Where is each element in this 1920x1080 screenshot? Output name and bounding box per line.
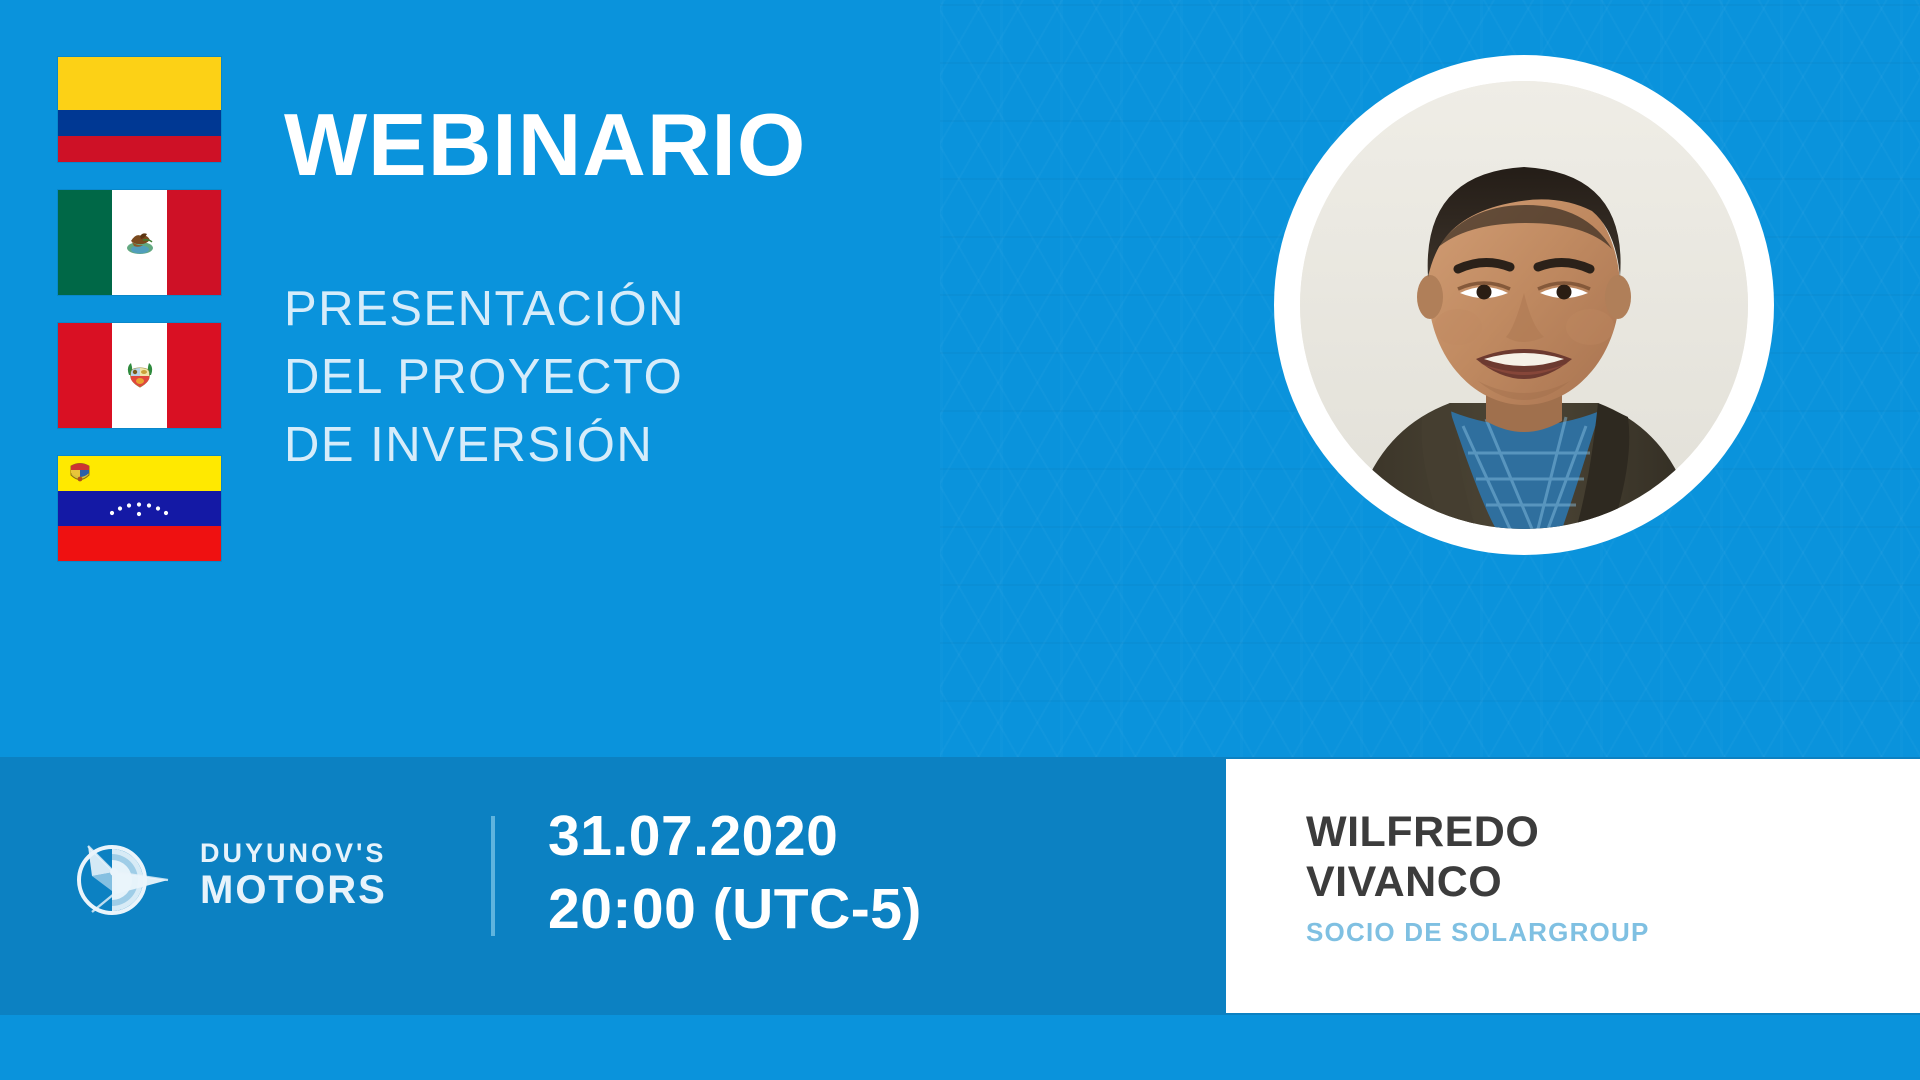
peru-flag-left-red-band [58,323,112,428]
page-subtitle-line-3: DE INVERSIÓN [284,411,685,479]
mexico-flag-white-band [112,190,166,295]
mexico-coat-of-arms-icon [123,228,157,258]
avatar [1274,55,1774,555]
avatar-image-clip [1300,81,1748,529]
colombia-flag-blue-band [58,110,221,136]
mexico-flag-green-band [58,190,112,295]
brand-logo: DUYUNOV'S MOTORS [68,820,387,930]
mexico-flag-red-band [167,190,221,295]
webinar-banner: WEBINARIO PRESENTACIÓN DEL PROYECTO DE I… [0,0,1920,1080]
duyunov-motors-logo-icon [68,820,178,930]
venezuela-coat-of-arms-icon [67,460,93,486]
speaker-name: WILFREDO VIVANCO [1306,807,1539,907]
speaker-portrait [1300,81,1748,529]
bottom-accent-strip [0,1015,1920,1080]
venezuela-flag-stars-icon [58,491,221,526]
venezuela-flag-red-band [58,526,221,561]
colombia-flag-yellow-band [58,57,221,110]
peru-coat-of-arms-icon [125,359,155,393]
speaker-first-name: WILFREDO [1306,807,1539,857]
page-title: WEBINARIO [284,97,806,193]
page-subtitle-line-2: DEL PROYECTO [284,343,685,411]
schedule: 31.07.2020 20:00 (UTC-5) [548,800,922,946]
speaker-last-name: VIVANCO [1306,857,1539,907]
flags-column [58,57,221,561]
footer-divider [491,816,495,936]
mexico-flag [58,190,221,295]
colombia-flag [58,57,221,162]
peru-flag-white-band [112,323,166,428]
venezuela-flag [58,456,221,561]
schedule-time: 20:00 (UTC-5) [548,873,922,946]
speaker-card: WILFREDO VIVANCO SOCIO DE SOLARGROUP [1226,759,1920,1013]
peru-flag [58,323,221,428]
brand-line-1: DUYUNOV'S [200,840,387,867]
schedule-date: 31.07.2020 [548,800,922,873]
brand-line-2: MOTORS [200,870,387,910]
page-subtitle: PRESENTACIÓN DEL PROYECTO DE INVERSIÓN [284,275,685,479]
page-subtitle-line-1: PRESENTACIÓN [284,275,685,343]
colombia-flag-red-band [58,136,221,162]
peru-flag-right-red-band [167,323,221,428]
brand-wordmark: DUYUNOV'S MOTORS [200,840,387,910]
speaker-role: SOCIO DE SOLARGROUP [1306,917,1650,948]
